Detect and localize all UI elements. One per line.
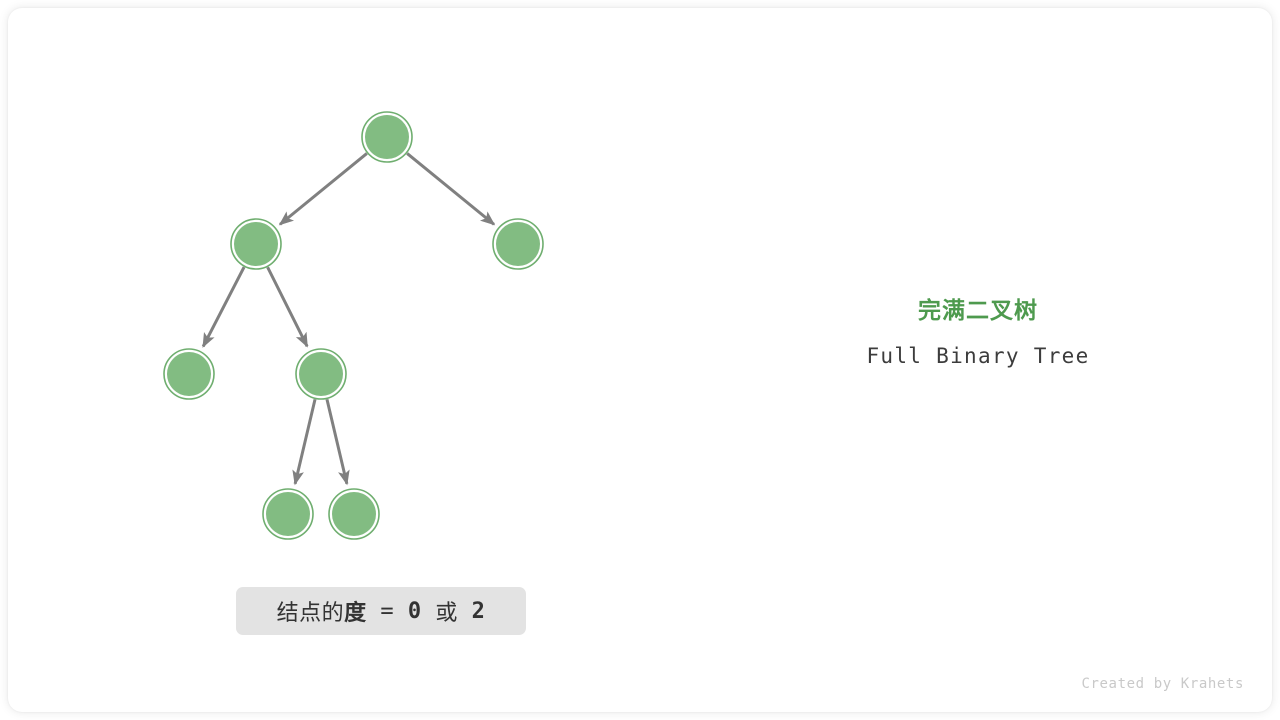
degree-label-value-a: 0 [408, 599, 422, 624]
tree-node-circle [234, 222, 278, 266]
tree-edge [203, 267, 244, 346]
degree-label-term: 度 [344, 595, 367, 627]
diagram-card: 完满二叉树 Full Binary Tree 结点的度 = 0 或 2 Crea… [8, 8, 1272, 712]
tree-node-circle [365, 115, 409, 159]
tree-node [329, 489, 379, 539]
tree-edges [203, 153, 494, 483]
tree-node-circle [167, 352, 211, 396]
degree-label: 结点的度 = 0 或 2 [236, 587, 526, 635]
credit-text: Created by Krahets [1081, 676, 1244, 692]
tree-node [296, 349, 346, 399]
tree-edge [280, 153, 367, 224]
caption-block: 完满二叉树 Full Binary Tree [768, 296, 1188, 369]
tree-edge [295, 399, 315, 484]
tree-edge [407, 153, 494, 224]
tree-node [493, 219, 543, 269]
tree-node [231, 219, 281, 269]
caption-subtitle: Full Binary Tree [768, 343, 1188, 369]
caption-title: 完满二叉树 [768, 296, 1188, 326]
tree-node-circle [332, 492, 376, 536]
tree-node-circle [266, 492, 310, 536]
tree-node [362, 112, 412, 162]
tree-node-circle [299, 352, 343, 396]
tree-node [164, 349, 214, 399]
degree-label-conjunction: 或 [422, 595, 472, 627]
degree-label-prefix: 结点的 [277, 595, 345, 627]
tree-nodes [164, 112, 543, 539]
tree-node [263, 489, 313, 539]
tree-edge [268, 267, 308, 346]
degree-label-value-b: 2 [472, 599, 486, 624]
degree-label-equals: = [367, 599, 408, 624]
tree-edge [327, 399, 347, 484]
tree-node-circle [496, 222, 540, 266]
